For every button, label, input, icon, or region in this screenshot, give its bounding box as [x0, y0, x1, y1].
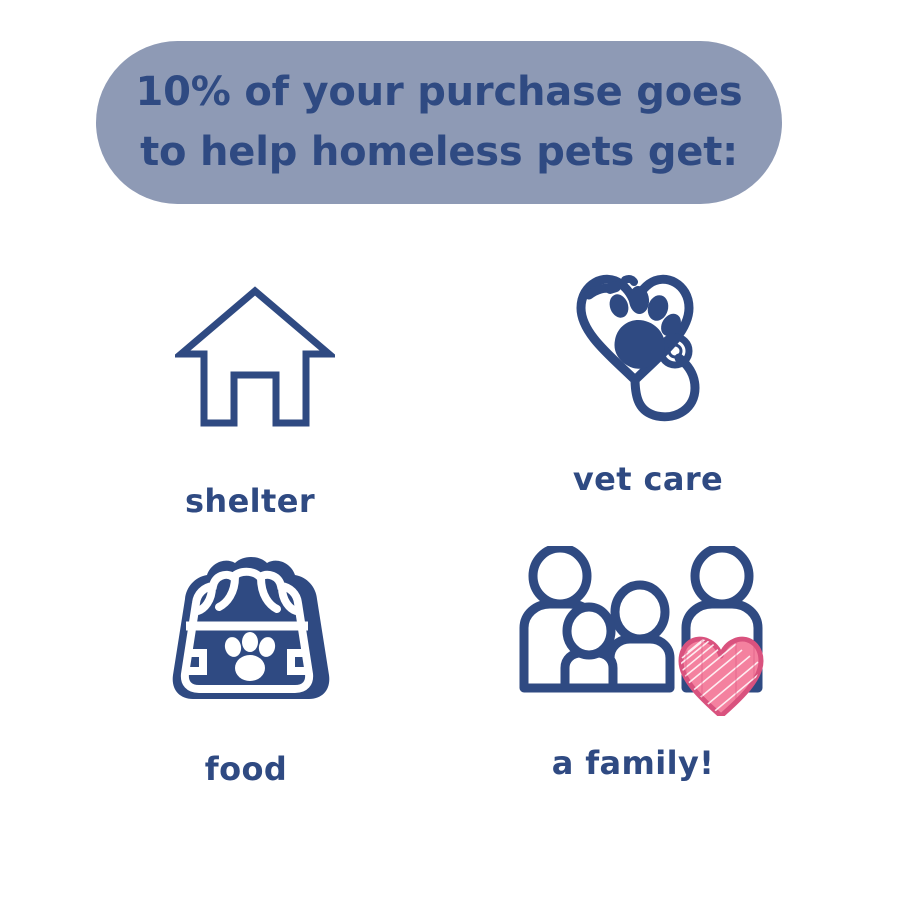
- benefit-item-shelter: shelter: [60, 245, 450, 525]
- donation-poster: 10% of your purchase goes to help homele…: [0, 0, 900, 900]
- child-front-head: [567, 607, 611, 655]
- house-icon-wrapper: [175, 267, 335, 447]
- child-middle-body: [610, 639, 670, 688]
- benefit-item-vet-care: vet care: [450, 245, 840, 525]
- benefit-item-food: food: [60, 525, 450, 805]
- benefit-label-shelter: shelter: [185, 485, 315, 517]
- benefit-label-food: food: [205, 753, 287, 785]
- banner-line-2: to help homeless pets get:: [140, 123, 738, 182]
- benefit-label-vet-care: vet care: [573, 463, 723, 495]
- adult-left-head: [533, 548, 587, 604]
- donation-banner: 10% of your purchase goes to help homele…: [96, 41, 782, 204]
- pet-food-bowl-paw-icon: [155, 553, 355, 713]
- child-middle-head: [615, 585, 665, 639]
- stethoscope-heart-paw-icon-wrapper: [553, 253, 738, 433]
- benefits-grid: shelter: [60, 245, 840, 805]
- family-with-heart-icon-wrapper: [510, 541, 780, 721]
- family-with-heart-icon: [510, 546, 780, 716]
- adult-right-head: [695, 548, 749, 604]
- house-icon: [175, 282, 335, 432]
- pet-food-bowl-paw-icon-wrapper: [155, 543, 355, 723]
- stethoscope-heart-paw-icon: [553, 258, 738, 428]
- benefit-item-a-family: a family!: [450, 525, 840, 805]
- benefit-label-a-family: a family!: [552, 747, 715, 779]
- banner-line-1: 10% of your purchase goes: [135, 63, 742, 122]
